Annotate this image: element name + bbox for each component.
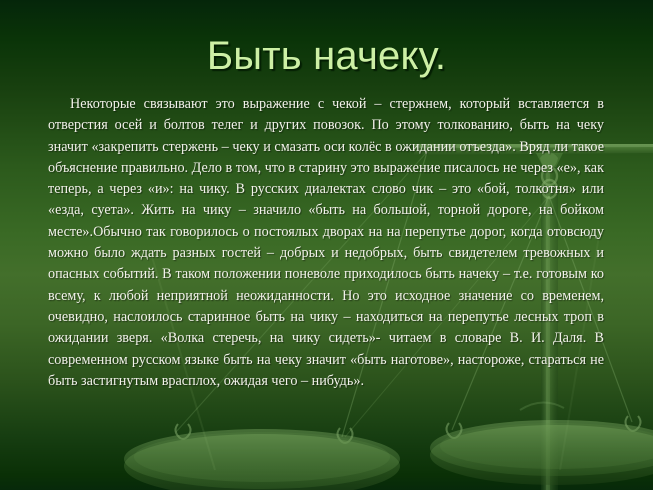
slide-title: Быть начеку. (0, 32, 653, 80)
slide-body-paragraph: Некоторые связывают это выражение с чеко… (48, 94, 604, 392)
presentation-slide: Быть начеку. Некоторые связывают это выр… (0, 0, 653, 490)
